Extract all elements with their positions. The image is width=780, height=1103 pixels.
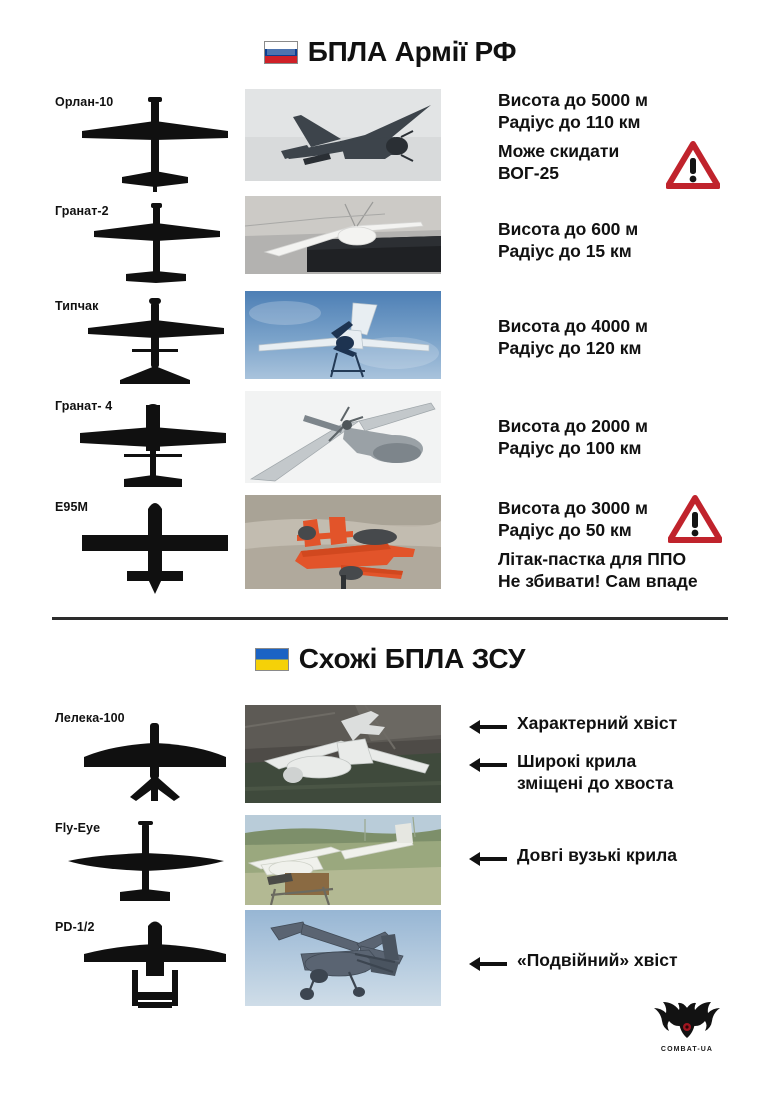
spec-e95m: Висота до 3000 м Радіус до 50 км xyxy=(498,497,648,542)
uav-row-fly-eye: Fly-Eye xyxy=(0,815,780,910)
warning-triangle-icon xyxy=(666,141,720,194)
section-header-ukrainian: Схожі БПЛА ЗСУ xyxy=(0,643,780,675)
granat-2-photo xyxy=(245,196,441,274)
leleka-100-silhouette xyxy=(80,723,230,803)
logo-caption: COMBAT-UA xyxy=(652,1046,722,1053)
warning-triangle-icon-e95m xyxy=(668,495,722,548)
uav-row-pd-1-2: PD-1/2 xyxy=(0,910,780,1010)
russia-flag-icon xyxy=(264,41,298,64)
leleka-100-photo xyxy=(245,705,441,803)
annotation-text-pd-1-2-tail: «Подвійний» хвіст xyxy=(517,950,678,972)
uav-row-e95m: E95M xyxy=(0,491,780,606)
uav-row-tipchak: Типчак xyxy=(0,291,780,391)
annotation-pd-1-2-tail: «Подвійний» хвіст xyxy=(468,950,678,972)
arrow-left-icon xyxy=(468,719,508,735)
infographic-page: БПЛА Армії РФ Орлан-10 xyxy=(0,0,780,1103)
arrow-left-icon xyxy=(468,851,508,867)
spec-granat-4: Висота до 2000 м Радіус до 100 км xyxy=(498,415,648,460)
tipchak-silhouette xyxy=(86,296,226,386)
annotation-text-leleka-tail: Характерний хвіст xyxy=(517,713,677,735)
orlan-10-photo xyxy=(245,89,441,181)
annotation-fly-eye-wings: Довгі вузькі крила xyxy=(468,845,677,867)
granat-4-silhouette xyxy=(78,401,228,489)
section-divider xyxy=(52,617,728,620)
annotation-leleka-tail: Характерний хвіст xyxy=(468,713,677,735)
note-orlan-10: Може скидати ВОГ-25 xyxy=(498,141,619,185)
ukraine-flag-icon xyxy=(255,648,289,671)
e95m-photo xyxy=(245,495,441,589)
granat-2-silhouette xyxy=(92,201,222,286)
fly-eye-photo xyxy=(245,815,441,905)
tipchak-photo xyxy=(245,291,441,379)
uav-row-granat-4: Гранат- 4 xyxy=(0,391,780,491)
spec-granat-2: Висота до 600 м Радіус до 15 км xyxy=(498,218,638,263)
pd-1-2-silhouette xyxy=(80,916,230,1008)
spec-tipchak: Висота до 4000 м Радіус до 120 км xyxy=(498,315,648,360)
annotation-text-leleka-wings: Широкі крила зміщені до хвоста xyxy=(517,751,673,795)
uav-row-leleka-100: Лелека-100 xyxy=(0,705,780,810)
section-header-russian: БПЛА Армії РФ xyxy=(0,36,780,68)
note-e95m: Літак-пастка для ППО Не збивати! Сам впа… xyxy=(498,549,698,593)
arrow-left-icon xyxy=(468,956,508,972)
uav-row-orlan-10: Орлан-10 xyxy=(0,85,780,193)
section-title-russian: БПЛА Армії РФ xyxy=(308,36,517,68)
fly-eye-silhouette xyxy=(66,821,226,903)
e95m-silhouette xyxy=(80,495,230,595)
section-title-ukrainian: Схожі БПЛА ЗСУ xyxy=(299,643,525,675)
spec-orlan-10: Висота до 5000 м Радіус до 110 км xyxy=(498,89,648,134)
orlan-10-silhouette xyxy=(80,95,230,193)
annotation-leleka-wings: Широкі крила зміщені до хвоста xyxy=(468,751,673,795)
pd-1-2-photo xyxy=(245,910,441,1006)
uav-row-granat-2: Гранат-2 xyxy=(0,196,780,291)
granat-4-photo xyxy=(245,391,441,483)
annotation-text-fly-eye-wings: Довгі вузькі крила xyxy=(517,845,677,867)
arrow-left-icon xyxy=(468,757,508,773)
